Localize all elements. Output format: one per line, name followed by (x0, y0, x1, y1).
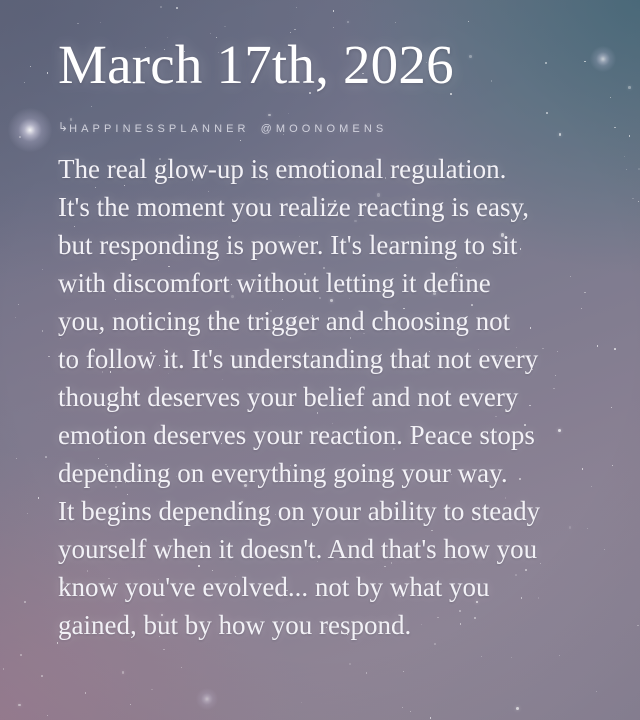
credit-line: ↳HAPPINESSPLANNER@MOONOMENS (58, 120, 387, 137)
credit-handle: @MOONOMENS (261, 123, 388, 135)
quote-poster: March 17th, 2026 ↳HAPPINESSPLANNER@MOONO… (0, 0, 640, 720)
quote-line: It begins depending on your ability to s… (58, 492, 588, 530)
credit-brand: HAPPINESSPLANNER (69, 123, 250, 135)
quote-line: The real glow-up is emotional regulation… (58, 150, 588, 188)
quote-line: with discomfort without letting it defin… (58, 264, 588, 302)
quote-line: emotion deserves your reaction. Peace st… (58, 416, 588, 454)
quote-line: to follow it. It's understanding that no… (58, 340, 588, 378)
poster-content: March 17th, 2026 ↳HAPPINESSPLANNER@MOONO… (0, 0, 640, 720)
quote-line: gained, but by how you respond. (58, 606, 588, 644)
quote-line: you, noticing the trigger and choosing n… (58, 302, 588, 340)
page-title: March 17th, 2026 (58, 34, 454, 96)
quote-line: but responding is power. It's learning t… (58, 226, 588, 264)
quote-line: It's the moment you realize reacting is … (58, 188, 588, 226)
quote-body: The real glow-up is emotional regulation… (58, 150, 588, 644)
quote-line: know you've evolved... not by what you (58, 568, 588, 606)
quote-line: yourself when it doesn't. And that's how… (58, 530, 588, 568)
arrow-hook-icon: ↳ (58, 119, 68, 135)
quote-line: thought deserves your belief and not eve… (58, 378, 588, 416)
quote-line: depending on everything going your way. (58, 454, 588, 492)
